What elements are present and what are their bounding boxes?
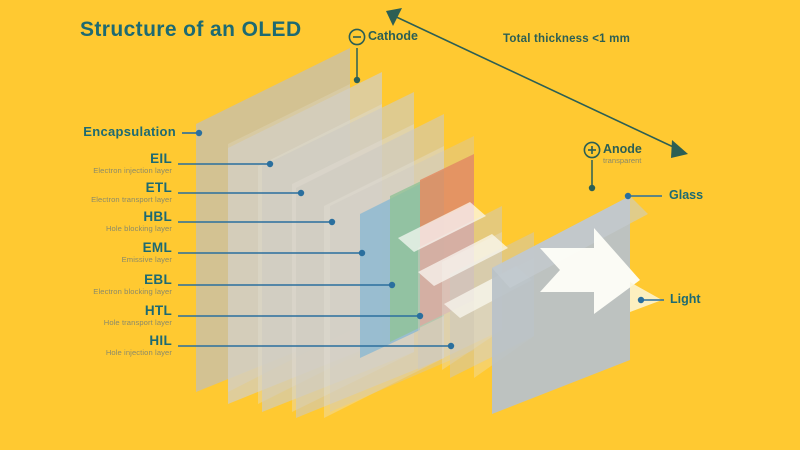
- oled-diagram-canvas: Structure of an OLED Total thickness <1 …: [0, 0, 800, 450]
- terminal-label-anode: Anode transparent: [603, 143, 642, 165]
- layer-label-hil: HIL Hole injection layer: [106, 334, 172, 358]
- etl-acronym: ETL: [91, 181, 172, 194]
- cathode-label: Cathode: [368, 30, 418, 43]
- layer-label-htl: HTL Hole transport layer: [104, 304, 172, 328]
- hbl-acronym: HBL: [106, 210, 172, 223]
- layer-label-hbl: HBL Hole blocking layer: [106, 210, 172, 234]
- ebl-acronym: EBL: [93, 273, 172, 286]
- anode-sublabel: transparent: [603, 156, 642, 165]
- layer-label-encapsulation: Encapsulation: [83, 125, 176, 138]
- page-title: Structure of an OLED: [80, 18, 302, 42]
- anode-label: Anode: [603, 143, 642, 156]
- layer-label-etl: ETL Electron transport layer: [91, 181, 172, 205]
- eml-sublabel: Emissive layer: [122, 255, 172, 265]
- eil-sublabel: Electron injection layer: [93, 166, 172, 176]
- hil-acronym: HIL: [106, 334, 172, 347]
- layer-label-eml: EML Emissive layer: [122, 241, 172, 265]
- glass-label: Glass: [669, 189, 703, 202]
- eml-acronym: EML: [122, 241, 172, 254]
- layer-label-ebl: EBL Electron blocking layer: [93, 273, 172, 297]
- eil-acronym: EIL: [93, 152, 172, 165]
- etl-sublabel: Electron transport layer: [91, 195, 172, 205]
- right-label-light: Light: [670, 293, 701, 306]
- ebl-sublabel: Electron blocking layer: [93, 287, 172, 297]
- hbl-sublabel: Hole blocking layer: [106, 224, 172, 234]
- htl-acronym: HTL: [104, 304, 172, 317]
- encapsulation-acronym: Encapsulation: [83, 125, 176, 138]
- right-label-glass: Glass: [669, 189, 703, 202]
- total-thickness-note: Total thickness <1 mm: [503, 33, 630, 45]
- hil-sublabel: Hole injection layer: [106, 348, 172, 358]
- htl-sublabel: Hole transport layer: [104, 318, 172, 328]
- terminal-label-cathode: Cathode: [368, 30, 418, 43]
- light-label: Light: [670, 293, 701, 306]
- layer-label-eil: EIL Electron injection layer: [93, 152, 172, 176]
